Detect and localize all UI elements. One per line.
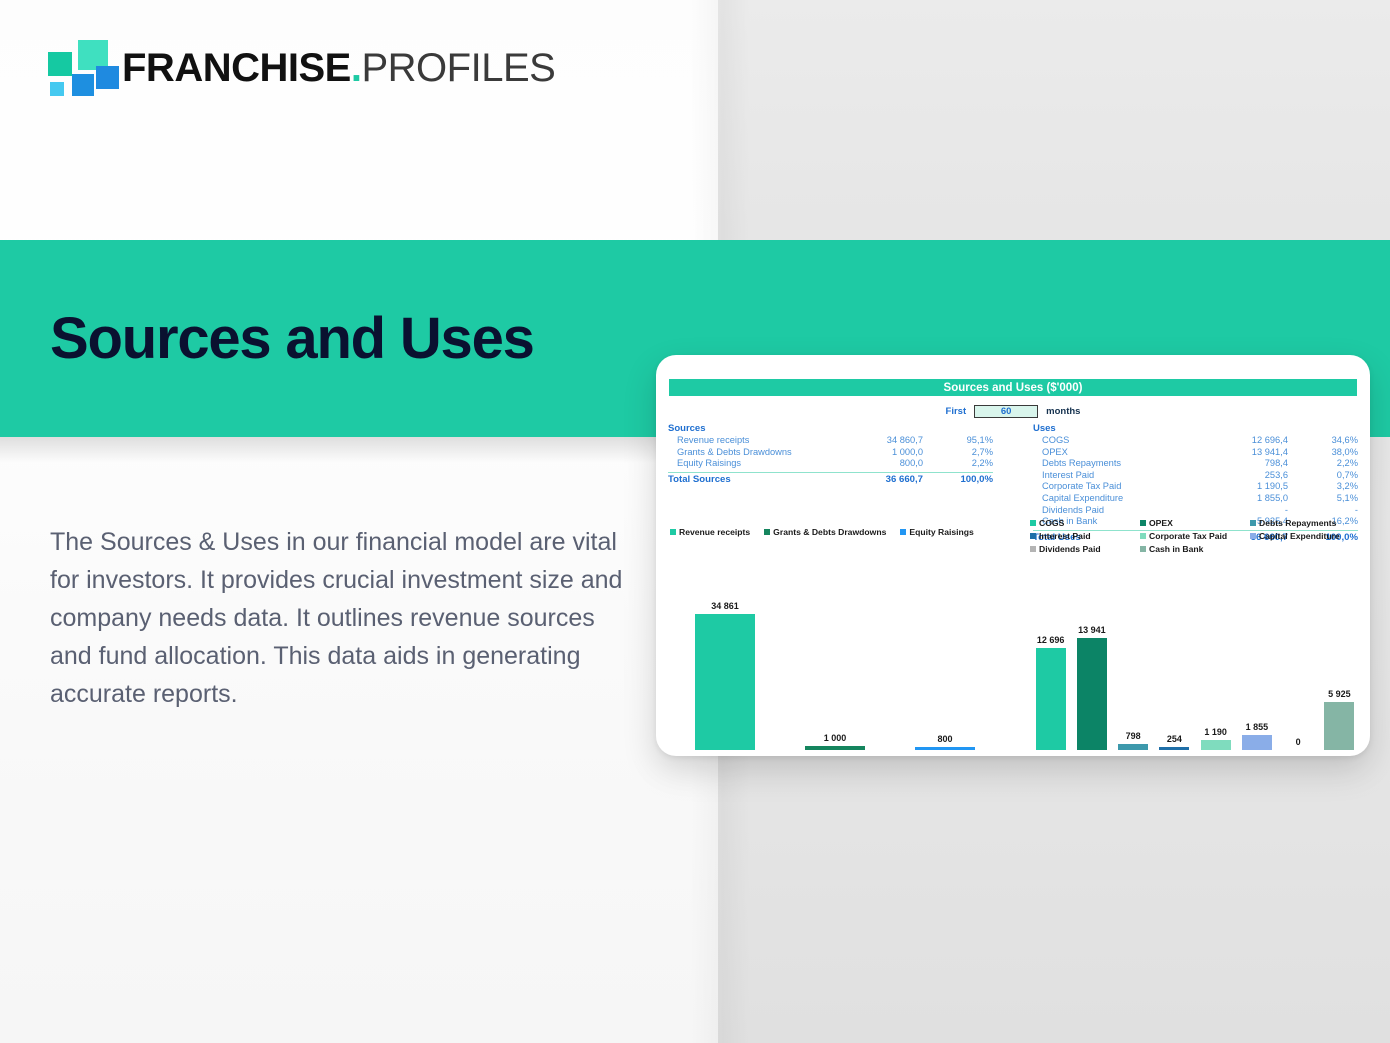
legend-item[interactable]: Dividends Paid <box>1030 544 1140 554</box>
legend-item[interactable]: Revenue receipts <box>670 527 750 537</box>
bar-value-label: 5 925 <box>1328 689 1351 699</box>
bar-column: 13 941 <box>1077 590 1107 750</box>
uses-row-percent: 3,2% <box>1288 481 1358 493</box>
bar-rect[interactable] <box>1159 747 1189 750</box>
uses-row-name: OPEX <box>1033 447 1202 459</box>
bar-value-label: 13 941 <box>1078 625 1106 635</box>
table-row: Dividends Paid-- <box>1033 505 1358 517</box>
table-row: Capital Expenditure1 855,05,1% <box>1033 493 1358 505</box>
legend-label: Debts Repayments <box>1259 518 1336 528</box>
bar-column: 1 190 <box>1201 590 1231 750</box>
legend-label: Capital Expenditure <box>1259 531 1340 541</box>
bar-value-label: 0 <box>1296 737 1301 747</box>
legend-swatch-icon <box>1030 533 1036 539</box>
uses-row-name: Interest Paid <box>1033 470 1202 482</box>
bar-rect[interactable] <box>1201 740 1231 750</box>
sources-table: Sources Revenue receipts34 860,795,1%Gra… <box>668 423 993 486</box>
legend-swatch-icon <box>900 529 906 535</box>
uses-row-amount: 12 696,4 <box>1202 435 1288 447</box>
table-row: Debts Repayments798,42,2% <box>1033 458 1358 470</box>
bar-rect[interactable] <box>915 747 975 750</box>
hero-body-text: The Sources & Uses in our financial mode… <box>50 523 625 713</box>
bar-rect[interactable] <box>1036 648 1066 750</box>
period-months-input[interactable]: 60 <box>974 405 1038 418</box>
sources-total-row: Total Sources 36 660,7 100,0% <box>668 472 993 486</box>
bar-value-label: 1 855 <box>1246 722 1269 732</box>
bar-column: 798 <box>1118 590 1148 750</box>
legend-item[interactable]: Capital Expenditure <box>1250 531 1360 541</box>
bar-column: 1 000 <box>805 590 865 750</box>
uses-header: Uses <box>1033 423 1358 435</box>
uses-bar-chart: 12 69613 9417982541 1901 85505 925 <box>1030 582 1360 750</box>
spreadsheet-title: Sources and Uses ($'000) <box>669 379 1357 396</box>
uses-row-name: Debts Repayments <box>1033 458 1202 470</box>
uses-row-percent: 0,7% <box>1288 470 1358 482</box>
table-row: Corporate Tax Paid1 190,53,2% <box>1033 481 1358 493</box>
bar-value-label: 12 696 <box>1037 635 1065 645</box>
bar-value-label: 34 861 <box>711 601 739 611</box>
bar-rect[interactable] <box>695 614 755 750</box>
table-row: Grants & Debts Drawdowns1 000,02,7% <box>668 447 993 459</box>
logo-squares-icon <box>48 40 110 96</box>
legend-label: COGS <box>1039 518 1064 528</box>
sources-chart-legend: Revenue receiptsGrants & Debts Drawdowns… <box>670 527 1000 537</box>
uses-chart-legend: COGSOPEXDebts RepaymentsInterest PaidCor… <box>1030 518 1360 557</box>
table-row: Equity Raisings800,02,2% <box>668 458 993 470</box>
bar-value-label: 254 <box>1167 734 1182 744</box>
legend-label: Interest Paid <box>1039 531 1091 541</box>
legend-label: Revenue receipts <box>679 527 750 537</box>
period-suffix-label: months <box>1046 406 1080 417</box>
sources-row-name: Revenue receipts <box>668 435 837 447</box>
legend-label: OPEX <box>1149 518 1173 528</box>
page-title: Sources and Uses <box>50 305 534 372</box>
uses-row-amount: 1 190,5 <box>1202 481 1288 493</box>
legend-swatch-icon <box>1140 533 1146 539</box>
bar-rect[interactable] <box>1242 735 1272 750</box>
uses-row-percent: - <box>1288 505 1358 517</box>
bar-rect[interactable] <box>1324 702 1354 750</box>
uses-row-name: Capital Expenditure <box>1033 493 1202 505</box>
legend-item[interactable]: COGS <box>1030 518 1140 528</box>
legend-label: Corporate Tax Paid <box>1149 531 1227 541</box>
bar-value-label: 800 <box>937 734 952 744</box>
uses-row-amount: 253,6 <box>1202 470 1288 482</box>
brand-dot: . <box>351 46 362 90</box>
bar-column: 1 855 <box>1242 590 1272 750</box>
bar-column: 254 <box>1159 590 1189 750</box>
sources-row-name: Equity Raisings <box>668 458 837 470</box>
bar-rect[interactable] <box>1077 638 1107 750</box>
table-row: OPEX13 941,438,0% <box>1033 447 1358 459</box>
sources-total-label: Total Sources <box>668 474 837 486</box>
bar-value-label: 1 190 <box>1204 727 1227 737</box>
sources-row-amount: 800,0 <box>837 458 923 470</box>
legend-item[interactable]: Grants & Debts Drawdowns <box>764 527 886 537</box>
bar-value-label: 1 000 <box>824 733 847 743</box>
uses-row-percent: 2,2% <box>1288 458 1358 470</box>
background-left-panel <box>0 0 718 1043</box>
uses-row-amount: - <box>1202 505 1288 517</box>
bar-column: 12 696 <box>1036 590 1066 750</box>
period-prefix-label: First <box>946 406 967 417</box>
legend-label: Dividends Paid <box>1039 544 1101 554</box>
legend-item[interactable]: OPEX <box>1140 518 1250 528</box>
uses-row-name: COGS <box>1033 435 1202 447</box>
sources-row-amount: 1 000,0 <box>837 447 923 459</box>
uses-row-amount: 1 855,0 <box>1202 493 1288 505</box>
legend-item[interactable]: Equity Raisings <box>900 527 973 537</box>
sources-row-percent: 2,2% <box>923 458 993 470</box>
legend-item[interactable]: Interest Paid <box>1030 531 1140 541</box>
legend-label: Equity Raisings <box>909 527 973 537</box>
legend-item[interactable]: Cash in Bank <box>1140 544 1250 554</box>
sources-total-amount: 36 660,7 <box>837 474 923 486</box>
legend-swatch-icon <box>1250 533 1256 539</box>
bar-column: 800 <box>915 590 975 750</box>
brand-logo: FRANCHISE.PROFILES <box>48 40 555 96</box>
brand-name-bold: FRANCHISE <box>122 46 351 90</box>
sources-row-percent: 2,7% <box>923 447 993 459</box>
table-row: COGS12 696,434,6% <box>1033 435 1358 447</box>
uses-row-name: Dividends Paid <box>1033 505 1202 517</box>
sources-header: Sources <box>668 423 993 435</box>
uses-row-percent: 38,0% <box>1288 447 1358 459</box>
period-selector-row: First 60 months <box>669 403 1357 419</box>
bar-column: 0 <box>1283 590 1313 750</box>
legend-item[interactable]: Corporate Tax Paid <box>1140 531 1250 541</box>
legend-swatch-icon <box>1030 546 1036 552</box>
table-row: Interest Paid253,60,7% <box>1033 470 1358 482</box>
brand-name-light: PROFILES <box>361 46 555 90</box>
legend-item[interactable]: Debts Repayments <box>1250 518 1360 528</box>
table-row: Revenue receipts34 860,795,1% <box>668 435 993 447</box>
sources-row-amount: 34 860,7 <box>837 435 923 447</box>
uses-row-percent: 5,1% <box>1288 493 1358 505</box>
legend-swatch-icon <box>1250 520 1256 526</box>
legend-swatch-icon <box>1140 546 1146 552</box>
uses-row-amount: 798,4 <box>1202 458 1288 470</box>
sources-bar-chart: 34 8611 000800 <box>670 582 1000 750</box>
bar-column: 5 925 <box>1324 590 1354 750</box>
sources-total-percent: 100,0% <box>923 474 993 486</box>
legend-swatch-icon <box>764 529 770 535</box>
legend-swatch-icon <box>1030 520 1036 526</box>
uses-row-amount: 13 941,4 <box>1202 447 1288 459</box>
bar-column: 34 861 <box>695 590 755 750</box>
legend-swatch-icon <box>1140 520 1146 526</box>
brand-wordmark: FRANCHISE.PROFILES <box>122 48 555 88</box>
bar-rect[interactable] <box>805 746 865 750</box>
uses-row-name: Corporate Tax Paid <box>1033 481 1202 493</box>
sources-row-percent: 95,1% <box>923 435 993 447</box>
legend-label: Cash in Bank <box>1149 544 1203 554</box>
bar-value-label: 798 <box>1126 731 1141 741</box>
uses-row-percent: 34,6% <box>1288 435 1358 447</box>
legend-swatch-icon <box>670 529 676 535</box>
spreadsheet-card: Sources and Uses ($'000) First 60 months… <box>656 355 1370 756</box>
legend-label: Grants & Debts Drawdowns <box>773 527 886 537</box>
bar-rect[interactable] <box>1118 744 1148 750</box>
hero-band-shadow <box>0 437 718 463</box>
sources-row-name: Grants & Debts Drawdowns <box>668 447 837 459</box>
